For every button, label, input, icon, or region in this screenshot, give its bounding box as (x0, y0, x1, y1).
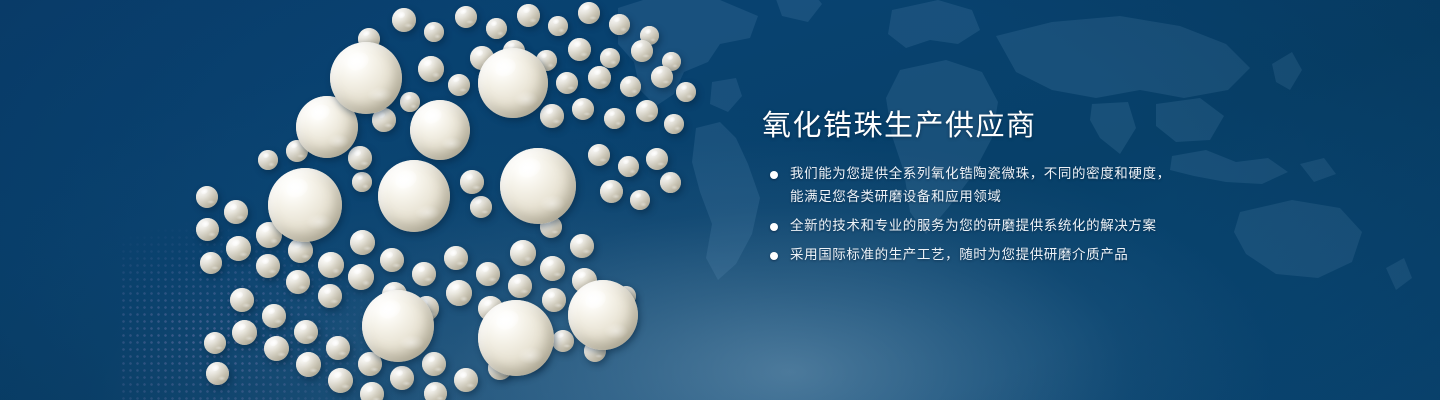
zirconia-bead (548, 16, 568, 36)
zirconia-bead (631, 40, 653, 62)
zirconia-bead (664, 114, 684, 134)
zirconia-bead (348, 264, 374, 290)
feature-text-line: 采用国际标准的生产工艺，随时为您提供研磨介质产品 (790, 244, 1322, 267)
zirconia-bead (618, 156, 639, 177)
feature-text-line: 我们能为您提供全系列氧化锆陶瓷微珠，不同的密度和硬度， (790, 163, 1322, 186)
banner-copy: 氧化锆珠生产供应商 我们能为您提供全系列氧化锆陶瓷微珠，不同的密度和硬度，能满足… (762, 106, 1322, 267)
zirconia-bead (604, 108, 625, 129)
zirconia-bead (540, 104, 564, 128)
zirconia-bead (226, 236, 251, 261)
zirconia-bead (508, 274, 532, 298)
zirconia-bead (578, 2, 600, 24)
zirconia-bead (268, 168, 342, 242)
zirconia-bead (460, 170, 484, 194)
zirconia-bead (448, 74, 470, 96)
zirconia-bead (352, 172, 372, 192)
zirconia-bead (350, 230, 375, 255)
zirconia-bead (572, 98, 594, 120)
zirconia-bead (455, 6, 477, 28)
zirconia-bead (676, 82, 696, 102)
zirconia-bead (660, 172, 681, 193)
zirconia-bead (318, 252, 344, 278)
zirconia-bead (478, 300, 554, 376)
zirconia-bead (424, 382, 447, 400)
zirconia-bead (588, 144, 610, 166)
bullet-dot-icon (770, 252, 778, 260)
feature-list-item: 我们能为您提供全系列氧化锆陶瓷微珠，不同的密度和硬度，能满足您各类研磨设备和应用… (762, 163, 1322, 209)
zirconia-bead (542, 288, 566, 312)
zirconia-bead (200, 252, 222, 274)
zirconia-bead (470, 196, 492, 218)
zirconia-bead (646, 148, 668, 170)
zirconia-bead (296, 352, 321, 377)
zirconia-bead (568, 38, 591, 61)
zirconia-bead (412, 262, 436, 286)
zirconia-bead (378, 160, 450, 232)
zirconia-bead (422, 352, 446, 376)
zirconia-bead (318, 284, 342, 308)
zirconia-bead (196, 186, 218, 208)
zirconia-bead (568, 280, 638, 350)
zirconia-bead (510, 240, 536, 266)
zirconia-bead (556, 72, 578, 94)
zirconia-bead (588, 66, 611, 89)
zirconia-bead (204, 332, 226, 354)
zirconia-bead (264, 336, 289, 361)
zirconia-bead (256, 254, 280, 278)
zirconia-bead (424, 22, 444, 42)
zirconia-bead (326, 336, 350, 360)
feature-list-item: 全新的技术和专业的服务为您的研磨提供系统化的解决方案 (762, 215, 1322, 238)
page-title: 氧化锆珠生产供应商 (762, 106, 1322, 144)
zirconia-bead (446, 280, 472, 306)
zirconia-bead (392, 8, 416, 32)
zirconia-bead (418, 56, 444, 82)
zirconia-bead (258, 150, 278, 170)
hero-banner: 氧化锆珠生产供应商 我们能为您提供全系列氧化锆陶瓷微珠，不同的密度和硬度，能满足… (0, 0, 1440, 400)
zirconia-bead (552, 330, 574, 352)
zirconia-bead (410, 100, 470, 160)
zirconia-bead (294, 320, 318, 344)
zirconia-bead (232, 320, 257, 345)
bullet-dot-icon (770, 223, 778, 231)
zirconia-bead (330, 42, 402, 114)
zirconia-bead (390, 366, 414, 390)
zirconia-bead (500, 148, 576, 224)
zirconia-bead (196, 218, 219, 241)
zirconia-beads-image (0, 0, 760, 400)
zirconia-bead (570, 234, 594, 258)
zirconia-bead (609, 14, 630, 35)
zirconia-bead (476, 262, 500, 286)
zirconia-bead (486, 18, 507, 39)
zirconia-bead (517, 4, 540, 27)
zirconia-bead (230, 288, 254, 312)
zirconia-bead (651, 66, 673, 88)
zirconia-bead (262, 304, 286, 328)
bullet-dot-icon (770, 171, 778, 179)
zirconia-bead (328, 368, 353, 393)
zirconia-bead (478, 48, 548, 118)
zirconia-bead (206, 362, 229, 385)
zirconia-bead (286, 270, 310, 294)
zirconia-bead (636, 100, 658, 122)
feature-list: 我们能为您提供全系列氧化锆陶瓷微珠，不同的密度和硬度，能满足您各类研磨设备和应用… (762, 163, 1322, 267)
zirconia-bead (540, 256, 565, 281)
zirconia-bead (444, 246, 468, 270)
feature-text-line: 能满足您各类研磨设备和应用领域 (790, 186, 1322, 209)
feature-text-line: 全新的技术和专业的服务为您的研磨提供系统化的解决方案 (790, 215, 1322, 238)
zirconia-bead (348, 146, 372, 170)
zirconia-bead (600, 48, 620, 68)
zirconia-bead (224, 200, 248, 224)
zirconia-bead (362, 290, 434, 362)
zirconia-bead (620, 76, 641, 97)
zirconia-bead (600, 180, 623, 203)
zirconia-bead (630, 190, 650, 210)
zirconia-bead (380, 248, 404, 272)
feature-list-item: 采用国际标准的生产工艺，随时为您提供研磨介质产品 (762, 244, 1322, 267)
zirconia-bead (360, 382, 384, 400)
zirconia-bead (454, 368, 478, 392)
